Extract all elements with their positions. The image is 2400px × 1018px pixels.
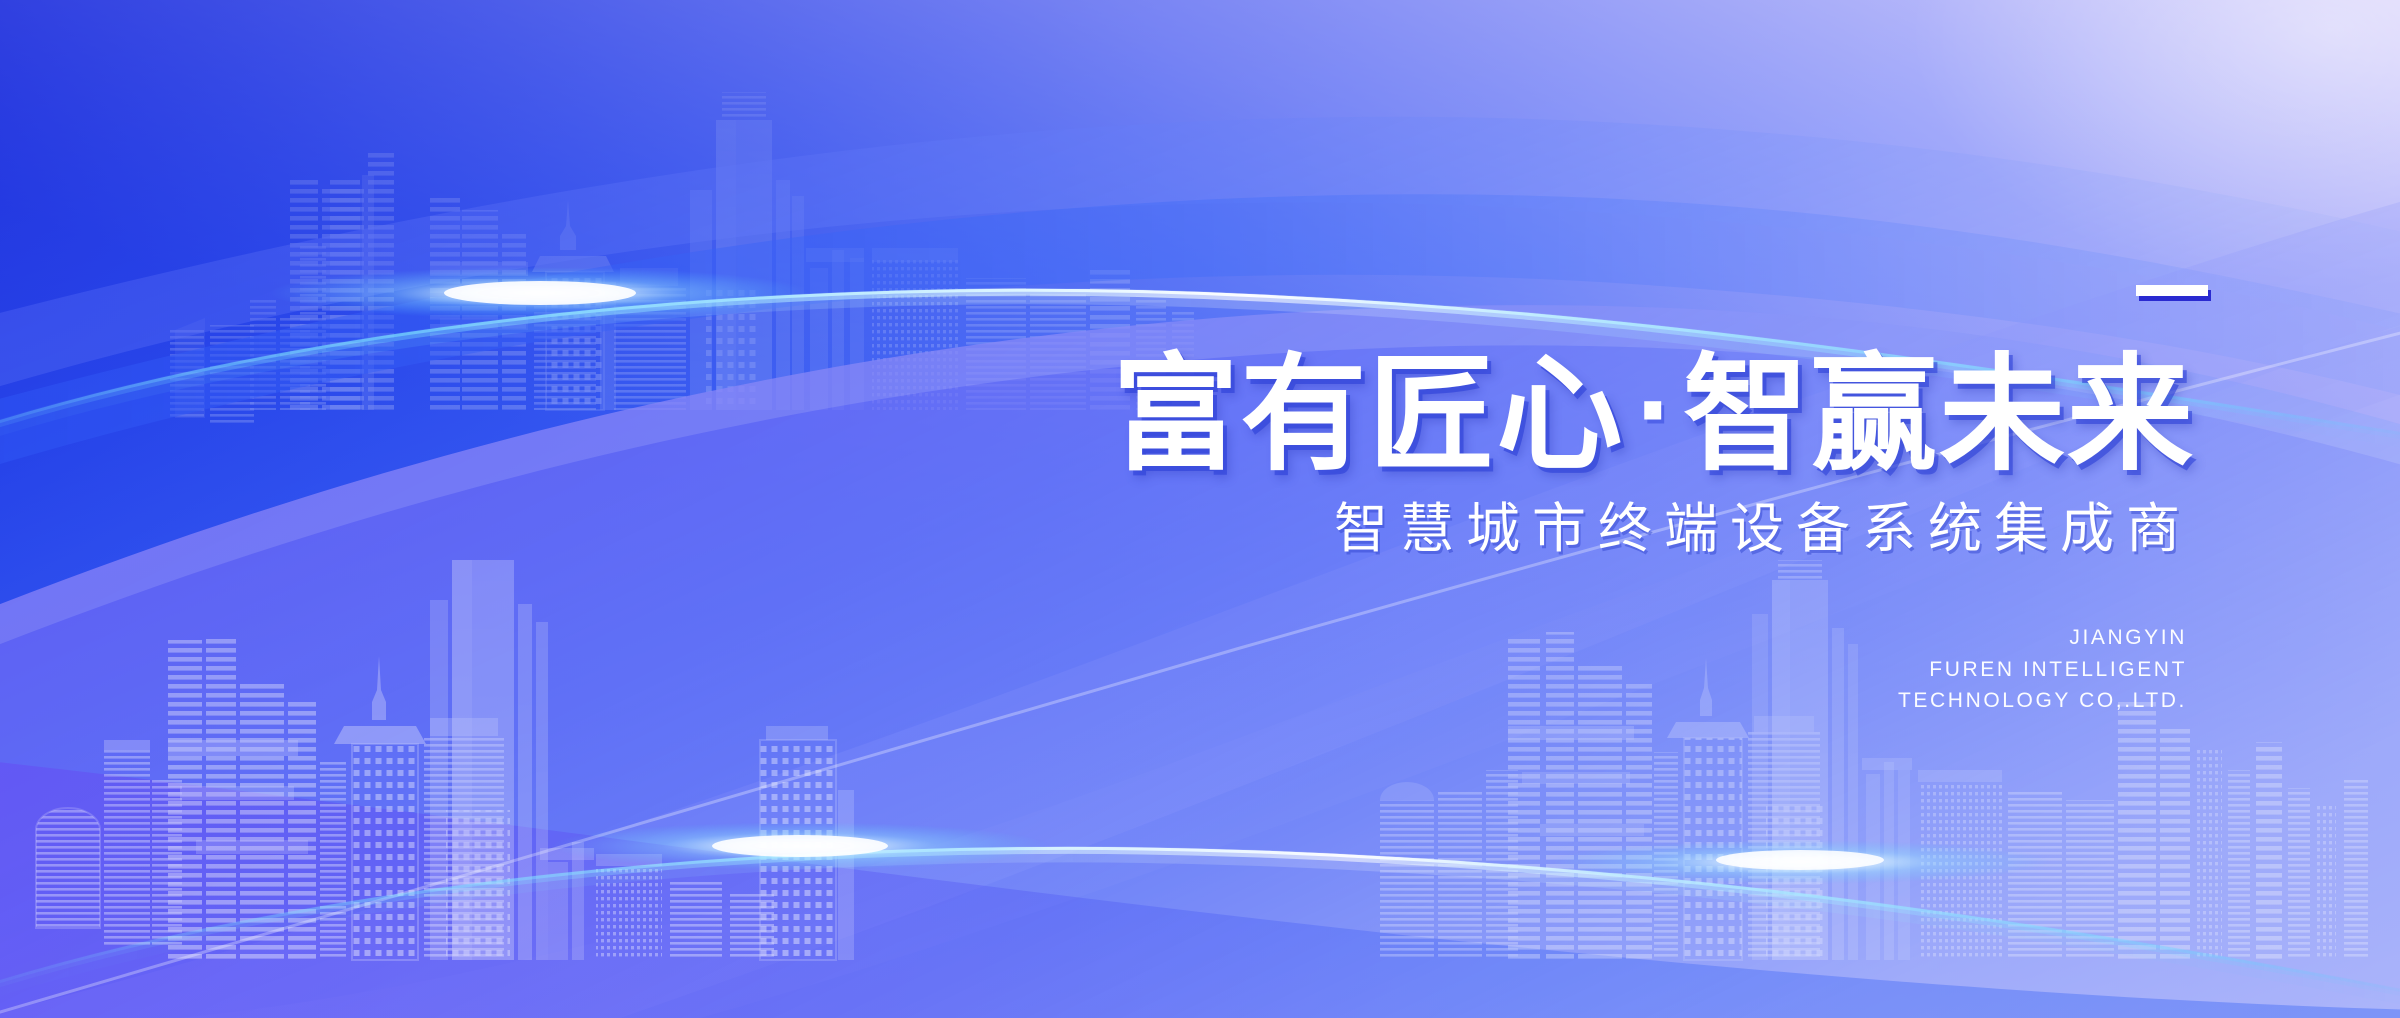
company-name-english: JIANGYIN FUREN INTELLIGENT TECHNOLOGY CO… [1727, 622, 2187, 717]
page-title-part-2: 智赢未来 [1683, 341, 2195, 488]
page-title: 富有匠心·智赢未来 [1113, 352, 2195, 478]
company-name-line-2: FUREN INTELLIGENT [1727, 654, 2187, 686]
page-title-part-1: 富有匠心 [1113, 341, 1625, 488]
page-subtitle: 智慧城市终端设备系统集成商 [1334, 502, 2192, 556]
promotional-banner: 富有匠心·智赢未来 智慧城市终端设备系统集成商 JIANGYIN FUREN I… [0, 0, 2400, 1018]
accent-dash-icon [2136, 285, 2208, 296]
company-name-line-3: TECHNOLOGY CO,.LTD. [1727, 685, 2187, 717]
company-name-line-1: JIANGYIN [1727, 622, 2187, 654]
title-separator-dot-icon: · [1625, 355, 1683, 467]
